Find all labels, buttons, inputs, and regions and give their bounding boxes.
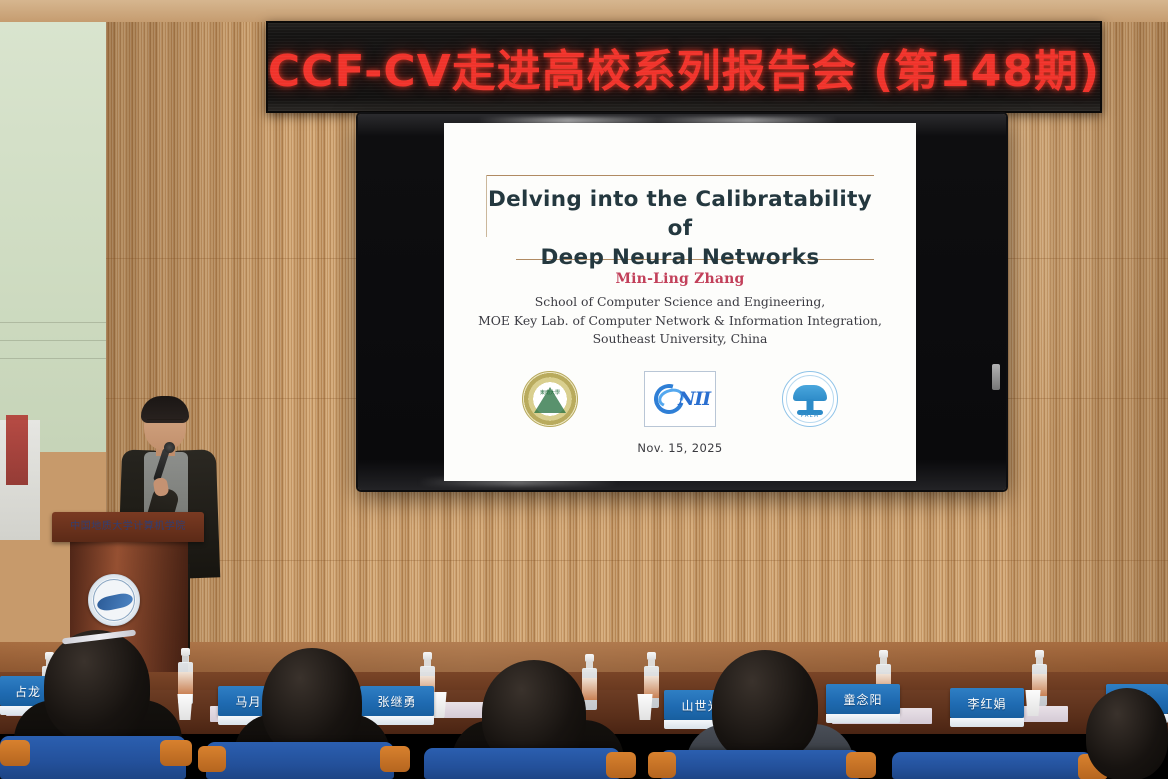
- display-indicator-light: [992, 364, 1000, 390]
- slide-logo-row: 東南大學 NII PALM: [444, 371, 916, 427]
- auditorium-chair: [424, 748, 620, 779]
- banner-title: CCF-CV走进高校系列报告会 (第148期): [268, 35, 1100, 99]
- palm-caption: PALM: [801, 413, 820, 419]
- speaker-glasses: [147, 419, 183, 427]
- left-wall-red-strip: [6, 415, 28, 485]
- slide-author: Min-Ling Zhang: [444, 271, 916, 287]
- affiliation-line-1: School of Computer Science and Engineeri…: [444, 293, 916, 312]
- seal-triangle: [534, 387, 566, 413]
- audience-head: [44, 630, 150, 742]
- nameplate-text: 张继勇: [377, 693, 416, 710]
- microphone-head-icon: [164, 442, 175, 453]
- audience-head: [1086, 688, 1168, 779]
- affiliation-line-3: Southeast University, China: [444, 330, 916, 349]
- chair-armrest: [198, 746, 226, 772]
- presentation-display: Delving into the Calibratability of Deep…: [358, 114, 1006, 490]
- chair-armrest: [846, 752, 876, 778]
- chair-armrest: [0, 740, 30, 766]
- audience-head: [262, 648, 362, 756]
- auditorium-chair: [660, 750, 860, 779]
- palm-lab-seal-icon: PALM: [782, 371, 838, 427]
- slide-title-line-1: Delving into the Calibratability of: [474, 185, 886, 243]
- cug-emblem-icon: [88, 574, 140, 626]
- cnii-wordmark: NII: [678, 388, 710, 410]
- chair-armrest: [160, 740, 192, 766]
- cnii-logo-icon: NII: [644, 371, 716, 427]
- auditorium-chair: [206, 742, 394, 779]
- slide-affiliation: School of Computer Science and Engineeri…: [444, 293, 916, 349]
- presentation-slide: Delving into the Calibratability of Deep…: [444, 123, 916, 481]
- nameplate-base: [826, 714, 900, 723]
- left-wall-panel: [0, 22, 106, 452]
- auditorium-chair: [892, 752, 1092, 779]
- nameplate: 李红娟: [950, 688, 1024, 718]
- chair-armrest: [648, 752, 676, 778]
- title-rule-top: [486, 175, 874, 176]
- affiliation-line-2: MOE Key Lab. of Computer Network & Infor…: [444, 312, 916, 331]
- slide-date: Nov. 15, 2025: [444, 441, 916, 455]
- nameplate-text: 占龙: [15, 683, 41, 700]
- lecture-hall-photo: CCF-CV走进高校系列报告会 (第148期) Delving into the…: [0, 0, 1168, 779]
- chair-armrest: [606, 752, 636, 778]
- lectern-label: 中国地质大学计算机学院: [52, 517, 204, 532]
- nameplate: 童念阳: [826, 684, 900, 714]
- slide-title-line-2: Deep Neural Networks: [474, 243, 886, 272]
- lectern-top: 中国地质大学计算机学院: [52, 512, 204, 542]
- nameplate-text: 李红娟: [967, 695, 1006, 712]
- chair-armrest: [380, 746, 410, 772]
- southeast-university-seal-icon: 東南大學: [522, 371, 578, 427]
- nameplate-base: [950, 718, 1024, 727]
- led-banner: CCF-CV走进高校系列报告会 (第148期): [266, 21, 1102, 113]
- nameplate-text: 童念阳: [843, 691, 882, 708]
- audience-head: [712, 650, 818, 762]
- slide-title: Delving into the Calibratability of Deep…: [474, 185, 886, 272]
- nameplate: 张继勇: [360, 686, 434, 716]
- wood-panel-seam: [106, 560, 1168, 561]
